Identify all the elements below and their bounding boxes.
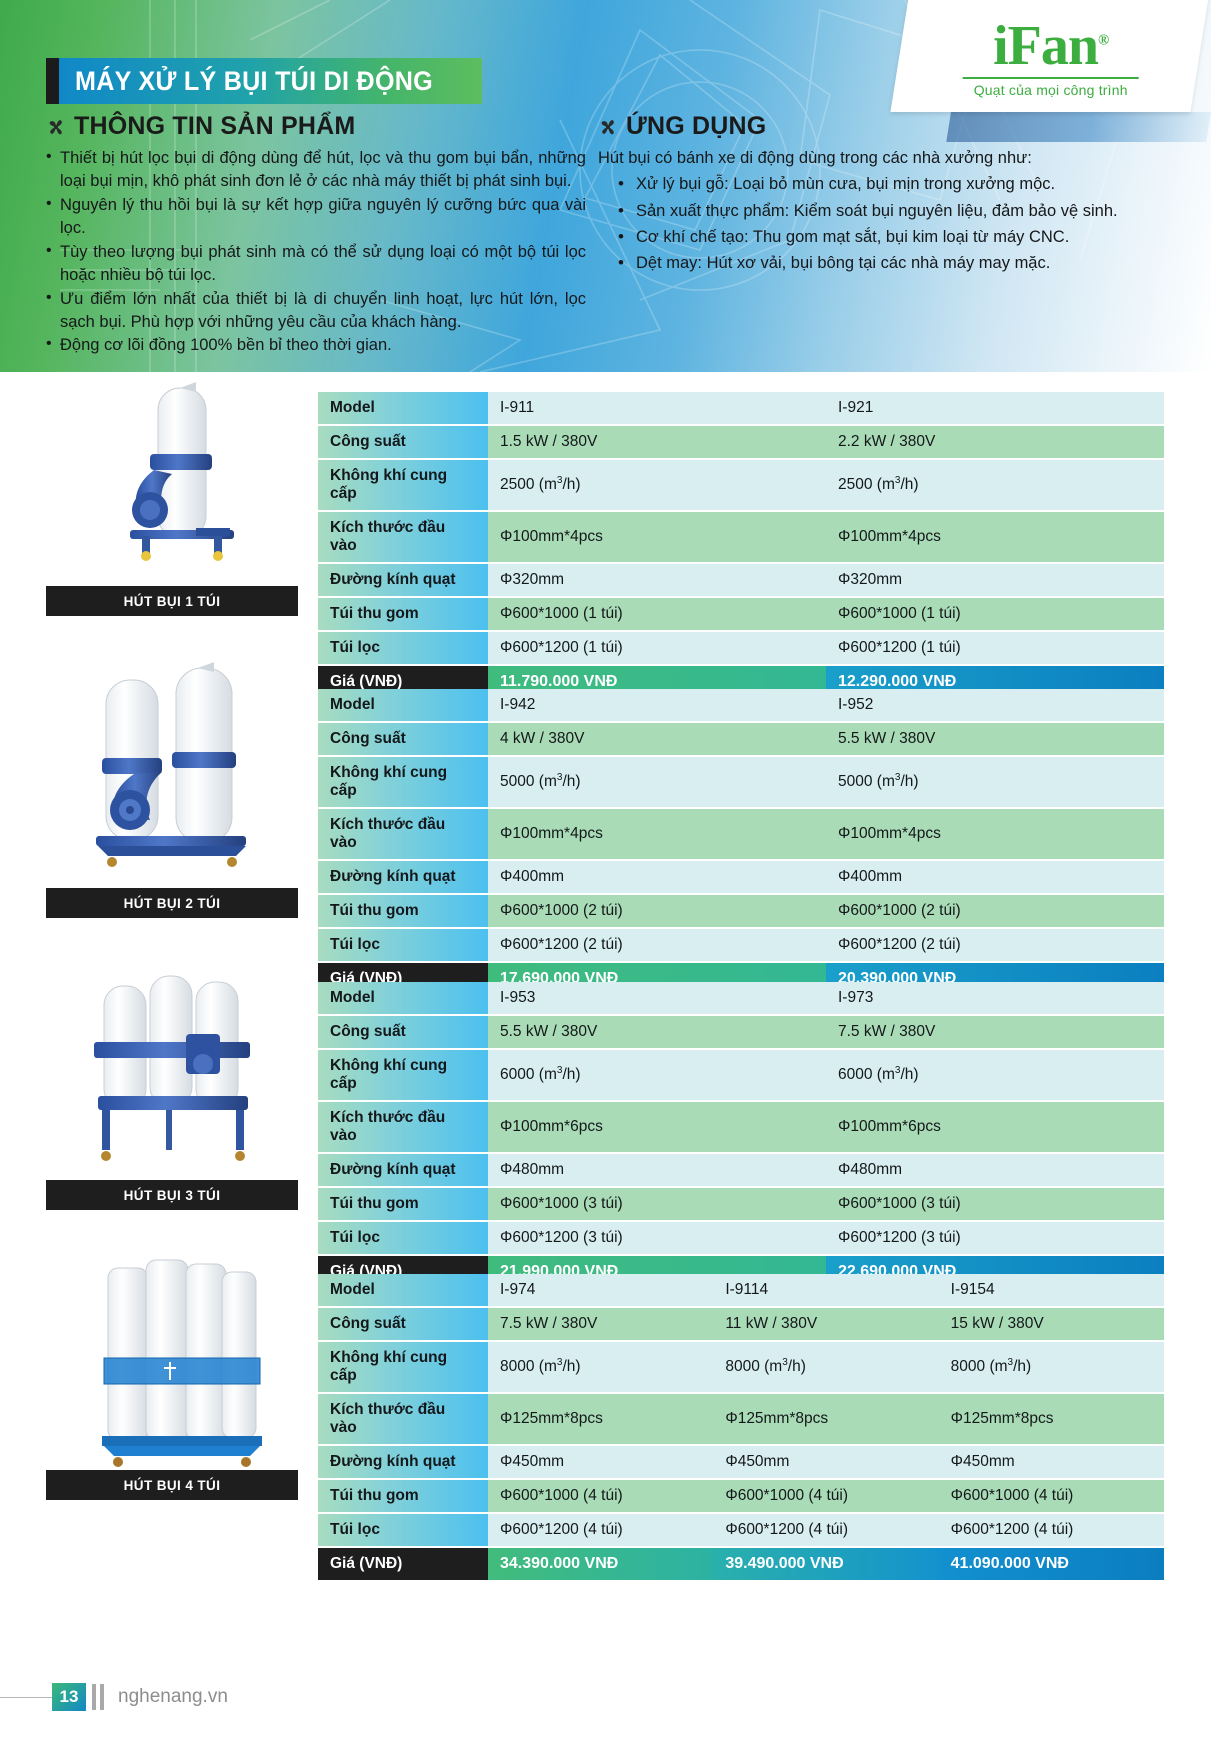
table-row: Túi lọc Φ600*1200 (4 túi) Φ600*1200 (4 t…	[318, 1514, 1164, 1546]
cell-filter-2: Φ600*1200 (2 túi)	[826, 929, 1164, 961]
product-image-4	[46, 1250, 298, 1475]
row-label: Túi lọc	[318, 929, 488, 961]
list-item: Cơ khí chế tạo: Thu gom mạt sắt, bụi kim…	[636, 225, 1158, 249]
table-row: Túi thu gom Φ600*1000 (2 túi) Φ600*1000 …	[318, 895, 1164, 927]
cell-fandia-2: Φ480mm	[826, 1154, 1164, 1186]
spec-table-1: Model I-911 I-921 Công suất 1.5 kW / 380…	[318, 390, 1164, 700]
table-row: Đường kính quạt Φ480mm Φ480mm	[318, 1154, 1164, 1186]
cell-power-1: 5.5 kW / 380V	[488, 1016, 826, 1048]
page-footer: 13 nghenang.vn	[0, 1683, 1211, 1713]
cell-fandia-1: Φ400mm	[488, 861, 826, 893]
row-label: Kích thước đầu vào	[318, 512, 488, 562]
cell-model-1: I-942	[488, 689, 826, 721]
table-row: Công suất 7.5 kW / 380V 11 kW / 380V 15 …	[318, 1308, 1164, 1340]
table-row: Kích thước đầu vào Φ100mm*4pcs Φ100mm*4p…	[318, 809, 1164, 859]
list-item: Ưu điểm lớn nhất của thiết bị là di chuy…	[46, 288, 586, 335]
row-label: Túi thu gom	[318, 1480, 488, 1512]
cell-power-1: 1.5 kW / 380V	[488, 426, 826, 458]
list-item: Xử lý bụi gỗ: Loại bỏ mùn cưa, bụi mịn t…	[636, 172, 1158, 196]
table-row: Túi thu gom Φ600*1000 (3 túi) Φ600*1000 …	[318, 1188, 1164, 1220]
page-number: 13	[52, 1683, 86, 1711]
list-item: Sản xuất thực phẩm: Kiểm soát bụi nguyên…	[636, 199, 1158, 223]
fan-icon	[46, 117, 66, 137]
row-label: Công suất	[318, 426, 488, 458]
row-label: Đường kính quạt	[318, 861, 488, 893]
table-row: Kích thước đầu vào Φ100mm*6pcs Φ100mm*6p…	[318, 1102, 1164, 1152]
cell-price-2: 39.490.000 VNĐ	[713, 1548, 938, 1580]
cell-inlet-2: Φ100mm*4pcs	[826, 809, 1164, 859]
product-caption-1: HÚT BỤI 1 TÚI	[46, 586, 298, 616]
list-item: Dệt may: Hút xơ vải, bụi bông tại các nh…	[636, 251, 1158, 275]
application-intro: Hút bụi có bánh xe di động dùng trong cá…	[598, 147, 1158, 170]
table-row: Kích thước đầu vào Φ125mm*8pcs Φ125mm*8p…	[318, 1394, 1164, 1444]
application-heading: ỨNG DỤNG	[626, 112, 766, 141]
row-label: Không khí cung cấp	[318, 1050, 488, 1100]
cell-model-1: I-974	[488, 1274, 713, 1306]
registered-icon: ®	[1098, 32, 1108, 48]
cell-power-2: 2.2 kW / 380V	[826, 426, 1164, 458]
page-title-banner: MÁY XỬ LÝ BỤI TÚI DI ĐỘNG	[46, 58, 482, 104]
table-row: Túi lọc Φ600*1200 (2 túi) Φ600*1200 (2 t…	[318, 929, 1164, 961]
cell-inlet-2: Φ125mm*8pcs	[713, 1394, 938, 1444]
product-image-1	[46, 378, 298, 578]
page-header: iFan® Quạt của mọi công trình MÁY XỬ LÝ …	[0, 0, 1211, 372]
row-label: Model	[318, 392, 488, 424]
application-list: Xử lý bụi gỗ: Loại bỏ mùn cưa, bụi mịn t…	[598, 172, 1158, 274]
cell-inlet-2: Φ100mm*4pcs	[826, 512, 1164, 562]
cell-power-2: 5.5 kW / 380V	[826, 723, 1164, 755]
cell-airflow-1: 5000 (m3/h)	[488, 757, 826, 807]
row-label: Túi thu gom	[318, 1188, 488, 1220]
list-item: Tùy theo lượng bụi phát sinh mà có thể s…	[46, 241, 586, 288]
info-heading: THÔNG TIN SẢN PHẨM	[74, 112, 355, 141]
cell-model-2: I-9114	[713, 1274, 938, 1306]
cell-power-2: 11 kW / 380V	[713, 1308, 938, 1340]
table-row-price: Giá (VNĐ) 34.390.000 VNĐ 39.490.000 VNĐ …	[318, 1548, 1164, 1580]
product-image-3	[46, 960, 298, 1182]
cell-model-3: I-9154	[939, 1274, 1164, 1306]
list-item: Động cơ lõi đồng 100% bền bỉ theo thời g…	[46, 334, 586, 357]
table-row: Túi lọc Φ600*1200 (1 túi) Φ600*1200 (1 t…	[318, 632, 1164, 664]
cell-fandia-2: Φ320mm	[826, 564, 1164, 596]
row-label: Công suất	[318, 723, 488, 755]
cell-power-2: 7.5 kW / 380V	[826, 1016, 1164, 1048]
footer-bars-icon	[92, 1684, 104, 1710]
cell-power-3: 15 kW / 380V	[939, 1308, 1164, 1340]
cell-inlet-2: Φ100mm*6pcs	[826, 1102, 1164, 1152]
row-label: Túi thu gom	[318, 598, 488, 630]
table-row: Không khí cung cấp 6000 (m3/h) 6000 (m3/…	[318, 1050, 1164, 1100]
row-label: Đường kính quạt	[318, 564, 488, 596]
cell-collect-1: Φ600*1000 (4 túi)	[488, 1480, 713, 1512]
cell-airflow-2: 5000 (m3/h)	[826, 757, 1164, 807]
cell-fandia-1: Φ480mm	[488, 1154, 826, 1186]
cell-airflow-1: 2500 (m3/h)	[488, 460, 826, 510]
catalog-page: iFan® Quạt của mọi công trình MÁY XỬ LÝ …	[0, 0, 1211, 1743]
spec-table-4: Model I-974 I-9114 I-9154 Công suất 7.5 …	[318, 1272, 1164, 1582]
cell-fandia-2: Φ450mm	[713, 1446, 938, 1478]
cell-fandia-1: Φ450mm	[488, 1446, 713, 1478]
cell-airflow-2: 2500 (m3/h)	[826, 460, 1164, 510]
product-caption-4: HÚT BỤI 4 TÚI	[46, 1470, 298, 1500]
cell-filter-2: Φ600*1200 (4 túi)	[713, 1514, 938, 1546]
logo-panel: iFan® Quạt của mọi công trình	[890, 0, 1211, 112]
table-row: Model I-942 I-952	[318, 689, 1164, 721]
table-row: Đường kính quạt Φ320mm Φ320mm	[318, 564, 1164, 596]
table-row: Túi thu gom Φ600*1000 (1 túi) Φ600*1000 …	[318, 598, 1164, 630]
row-label: Không khí cung cấp	[318, 460, 488, 510]
cell-filter-2: Φ600*1200 (3 túi)	[826, 1222, 1164, 1254]
table-row: Không khí cung cấp 5000 (m3/h) 5000 (m3/…	[318, 757, 1164, 807]
cell-collect-2: Φ600*1000 (2 túi)	[826, 895, 1164, 927]
product-image-2	[46, 660, 298, 882]
cell-model-1: I-953	[488, 982, 826, 1014]
cell-inlet-1: Φ125mm*8pcs	[488, 1394, 713, 1444]
cell-inlet-1: Φ100mm*6pcs	[488, 1102, 826, 1152]
cell-filter-1: Φ600*1200 (3 túi)	[488, 1222, 826, 1254]
table-row: Model I-953 I-973	[318, 982, 1164, 1014]
row-label: Kích thước đầu vào	[318, 1394, 488, 1444]
row-label: Túi lọc	[318, 632, 488, 664]
table-row: Không khí cung cấp 8000 (m3/h) 8000 (m3/…	[318, 1342, 1164, 1392]
product-info-section: THÔNG TIN SẢN PHẨM Thiết bị hút lọc bụi …	[46, 112, 586, 358]
row-label: Model	[318, 982, 488, 1014]
cell-collect-2: Φ600*1000 (4 túi)	[713, 1480, 938, 1512]
cell-price-3: 41.090.000 VNĐ	[939, 1548, 1164, 1580]
product-caption-2: HÚT BỤI 2 TÚI	[46, 888, 298, 918]
cell-model-1: I-911	[488, 392, 826, 424]
footer-rule	[0, 1697, 54, 1698]
cell-filter-2: Φ600*1200 (1 túi)	[826, 632, 1164, 664]
row-label: Không khí cung cấp	[318, 757, 488, 807]
cell-collect-1: Φ600*1000 (3 túi)	[488, 1188, 826, 1220]
list-item: Thiết bị hút lọc bụi di động dùng để hút…	[46, 147, 586, 194]
page-title: MÁY XỬ LÝ BỤI TÚI DI ĐỘNG	[75, 66, 433, 97]
cell-filter-3: Φ600*1200 (4 túi)	[939, 1514, 1164, 1546]
fan-icon	[598, 117, 618, 137]
cell-airflow-2: 6000 (m3/h)	[826, 1050, 1164, 1100]
cell-collect-1: Φ600*1000 (2 túi)	[488, 895, 826, 927]
brand-logo-text: iFan	[993, 15, 1098, 77]
cell-filter-1: Φ600*1200 (4 túi)	[488, 1514, 713, 1546]
title-accent-tab	[46, 58, 59, 104]
cell-model-2: I-921	[826, 392, 1164, 424]
table-row: Kích thước đầu vào Φ100mm*4pcs Φ100mm*4p…	[318, 512, 1164, 562]
row-label: Kích thước đầu vào	[318, 1102, 488, 1152]
cell-price-1: 34.390.000 VNĐ	[488, 1548, 713, 1580]
footer-website[interactable]: nghenang.vn	[118, 1686, 228, 1708]
table-row: Công suất 1.5 kW / 380V 2.2 kW / 380V	[318, 426, 1164, 458]
row-label: Công suất	[318, 1308, 488, 1340]
row-label: Túi thu gom	[318, 895, 488, 927]
cell-model-2: I-973	[826, 982, 1164, 1014]
table-row: Không khí cung cấp 2500 (m3/h) 2500 (m3/…	[318, 460, 1164, 510]
row-label: Túi lọc	[318, 1514, 488, 1546]
table-row: Công suất 5.5 kW / 380V 7.5 kW / 380V	[318, 1016, 1164, 1048]
table-row: Model I-974 I-9114 I-9154	[318, 1274, 1164, 1306]
row-label: Model	[318, 689, 488, 721]
row-label: Model	[318, 1274, 488, 1306]
cell-airflow-2: 8000 (m3/h)	[713, 1342, 938, 1392]
cell-filter-1: Φ600*1200 (2 túi)	[488, 929, 826, 961]
info-bullet-list: Thiết bị hút lọc bụi di động dùng để hút…	[46, 147, 586, 358]
table-row: Model I-911 I-921	[318, 392, 1164, 424]
cell-airflow-1: 6000 (m3/h)	[488, 1050, 826, 1100]
row-label: Đường kính quạt	[318, 1446, 488, 1478]
cell-collect-2: Φ600*1000 (3 túi)	[826, 1188, 1164, 1220]
cell-fandia-2: Φ400mm	[826, 861, 1164, 893]
spec-table-2: Model I-942 I-952 Công suất 4 kW / 380V …	[318, 687, 1164, 997]
cell-filter-1: Φ600*1200 (1 túi)	[488, 632, 826, 664]
cell-inlet-1: Φ100mm*4pcs	[488, 512, 826, 562]
row-label: Kích thước đầu vào	[318, 809, 488, 859]
spec-table-3: Model I-953 I-973 Công suất 5.5 kW / 380…	[318, 980, 1164, 1290]
row-label: Không khí cung cấp	[318, 1342, 488, 1392]
cell-collect-2: Φ600*1000 (1 túi)	[826, 598, 1164, 630]
cell-power-1: 7.5 kW / 380V	[488, 1308, 713, 1340]
row-label: Đường kính quạt	[318, 1154, 488, 1186]
product-caption-3: HÚT BỤI 3 TÚI	[46, 1180, 298, 1210]
brand-tagline: Quạt của mọi công trình	[974, 82, 1128, 98]
cell-inlet-3: Φ125mm*8pcs	[939, 1394, 1164, 1444]
table-row: Công suất 4 kW / 380V 5.5 kW / 380V	[318, 723, 1164, 755]
cell-fandia-3: Φ450mm	[939, 1446, 1164, 1478]
cell-model-2: I-952	[826, 689, 1164, 721]
cell-airflow-1: 8000 (m3/h)	[488, 1342, 713, 1392]
cell-collect-3: Φ600*1000 (4 túi)	[939, 1480, 1164, 1512]
table-row: Đường kính quạt Φ400mm Φ400mm	[318, 861, 1164, 893]
row-label: Công suất	[318, 1016, 488, 1048]
table-row: Đường kính quạt Φ450mm Φ450mm Φ450mm	[318, 1446, 1164, 1478]
application-section: ỨNG DỤNG Hút bụi có bánh xe di động dùng…	[598, 112, 1158, 277]
row-label-price: Giá (VNĐ)	[318, 1548, 488, 1580]
table-row: Túi thu gom Φ600*1000 (4 túi) Φ600*1000 …	[318, 1480, 1164, 1512]
cell-collect-1: Φ600*1000 (1 túi)	[488, 598, 826, 630]
cell-inlet-1: Φ100mm*4pcs	[488, 809, 826, 859]
row-label: Túi lọc	[318, 1222, 488, 1254]
table-row: Túi lọc Φ600*1200 (3 túi) Φ600*1200 (3 t…	[318, 1222, 1164, 1254]
logo-divider	[963, 77, 1139, 79]
cell-airflow-3: 8000 (m3/h)	[939, 1342, 1164, 1392]
cell-power-1: 4 kW / 380V	[488, 723, 826, 755]
cell-fandia-1: Φ320mm	[488, 564, 826, 596]
list-item: Nguyên lý thu hồi bụi là sự kết hợp giữa…	[46, 194, 586, 241]
brand-logo: iFan®	[993, 18, 1108, 74]
